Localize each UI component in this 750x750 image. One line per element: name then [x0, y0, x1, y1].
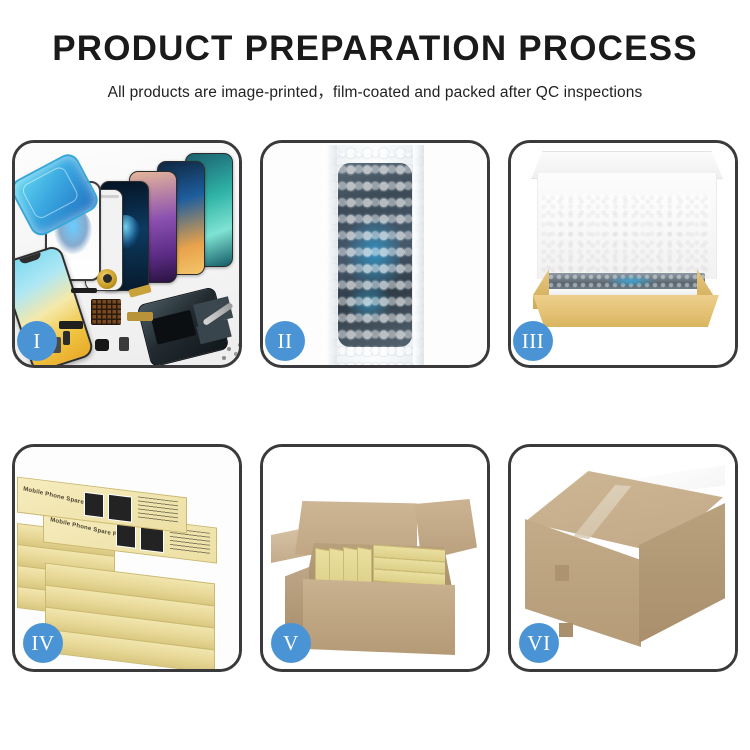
foam-lining [541, 195, 711, 277]
step-panel-6: VI [508, 444, 738, 672]
page-subtitle: All products are image-printed，film-coat… [0, 80, 750, 102]
step-badge-2: II [265, 321, 305, 361]
box-front-wall [533, 295, 719, 327]
step-panel-3: III [508, 140, 738, 368]
process-steps-grid: I II [12, 140, 738, 672]
grid-component [91, 299, 121, 325]
phone-lineup [85, 149, 235, 279]
screws [227, 347, 231, 351]
bubble-texture-offset [326, 153, 424, 365]
coil-part [97, 269, 117, 289]
flex-cable-2 [127, 312, 153, 321]
carton-front [303, 579, 455, 655]
camera-module [95, 339, 109, 351]
bag-edge-left [326, 145, 337, 365]
flex-cable-3 [59, 321, 83, 329]
bag-edge-right [413, 145, 424, 365]
step-badge-1: I [17, 321, 57, 361]
step-panel-1: I [12, 140, 242, 368]
button-part [63, 331, 70, 345]
printed-box-1-window-2 [108, 494, 132, 523]
printed-box-1-window-1 [84, 492, 104, 518]
step-badge-5: V [271, 623, 311, 663]
inner-box-4 [357, 547, 372, 587]
step-badge-6: VI [519, 623, 559, 663]
step-panel-2: II [260, 140, 490, 368]
step-panel-4: Mobile Phone Spare Parts Mobile Phone Sp… [12, 444, 242, 672]
carton-handle-notch-bottom [559, 623, 573, 637]
battery-connector [119, 337, 129, 351]
page-header: PRODUCT PREPARATION PROCESS All products… [0, 0, 750, 102]
speaker-part [71, 288, 97, 293]
product-blue-highlight [605, 275, 657, 287]
carton-handle-notch-top [555, 565, 569, 581]
step-badge-4: IV [23, 623, 63, 663]
step-badge-3: III [513, 321, 553, 361]
step-panel-5: V [260, 444, 490, 672]
page-title: PRODUCT PREPARATION PROCESS [0, 30, 750, 69]
